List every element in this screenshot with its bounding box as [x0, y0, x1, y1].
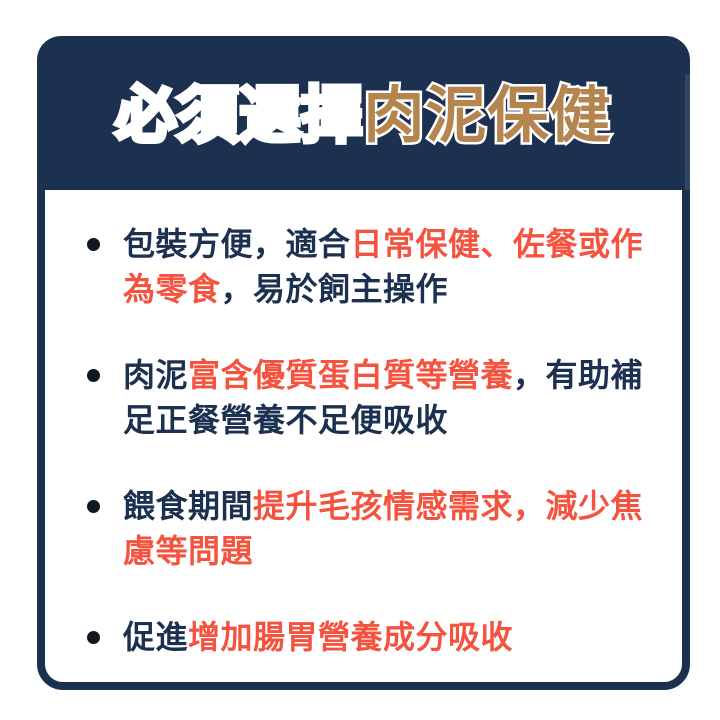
page-title-part-primary: 必須選擇: [115, 81, 363, 149]
text-segment-navy: 餵食期間: [123, 488, 253, 524]
bullet-dot-icon: [87, 631, 100, 644]
card-header: 必須選擇肉泥保健: [37, 36, 690, 190]
text-segment-navy: 肉泥: [123, 357, 188, 393]
text-segment-highlight: 增加腸胃營養成分吸收: [188, 619, 513, 655]
list-item-text: 肉泥富含優質蛋白質等營養，有助補足正餐營養不足便吸收: [123, 353, 651, 444]
list-item: 包裝方便，適合日常保健、佐餐或作為零食，易於飼主操作: [81, 222, 651, 313]
list-item-text: 餵食期間提升毛孩情感需求，減少焦慮等問題: [123, 484, 651, 575]
list-item-text: 包裝方便，適合日常保健、佐餐或作為零食，易於飼主操作: [123, 222, 651, 313]
text-segment-highlight: 富含優質蛋白質等營養: [188, 357, 513, 393]
info-card: 必須選擇肉泥保健 包裝方便，適合日常保健、佐餐或作為零食，易於飼主操作 肉泥富含…: [37, 36, 690, 690]
page-title-part-accent: 肉泥保健: [364, 81, 612, 149]
header-edge-seam: [685, 74, 690, 190]
list-item-text: 促進增加腸胃營養成分吸收: [123, 615, 651, 660]
benefit-list: 包裝方便，適合日常保健、佐餐或作為零食，易於飼主操作 肉泥富含優質蛋白質等營養，…: [81, 222, 651, 660]
list-item: 餵食期間提升毛孩情感需求，減少焦慮等問題: [81, 484, 651, 575]
text-segment-navy: 包裝方便，適合: [123, 226, 351, 262]
text-segment-navy: 促進: [123, 619, 188, 655]
page-canvas: 必須選擇肉泥保健 包裝方便，適合日常保健、佐餐或作為零食，易於飼主操作 肉泥富含…: [0, 0, 720, 720]
bullet-dot-icon: [87, 500, 100, 513]
text-segment-navy: ，易於飼主操作: [221, 271, 449, 307]
bullet-dot-icon: [87, 238, 100, 251]
page-title: 必須選擇肉泥保健: [115, 85, 611, 146]
bullet-dot-icon: [87, 369, 100, 382]
list-item: 促進增加腸胃營養成分吸收: [81, 615, 651, 660]
list-item: 肉泥富含優質蛋白質等營養，有助補足正餐營養不足便吸收: [81, 353, 651, 444]
